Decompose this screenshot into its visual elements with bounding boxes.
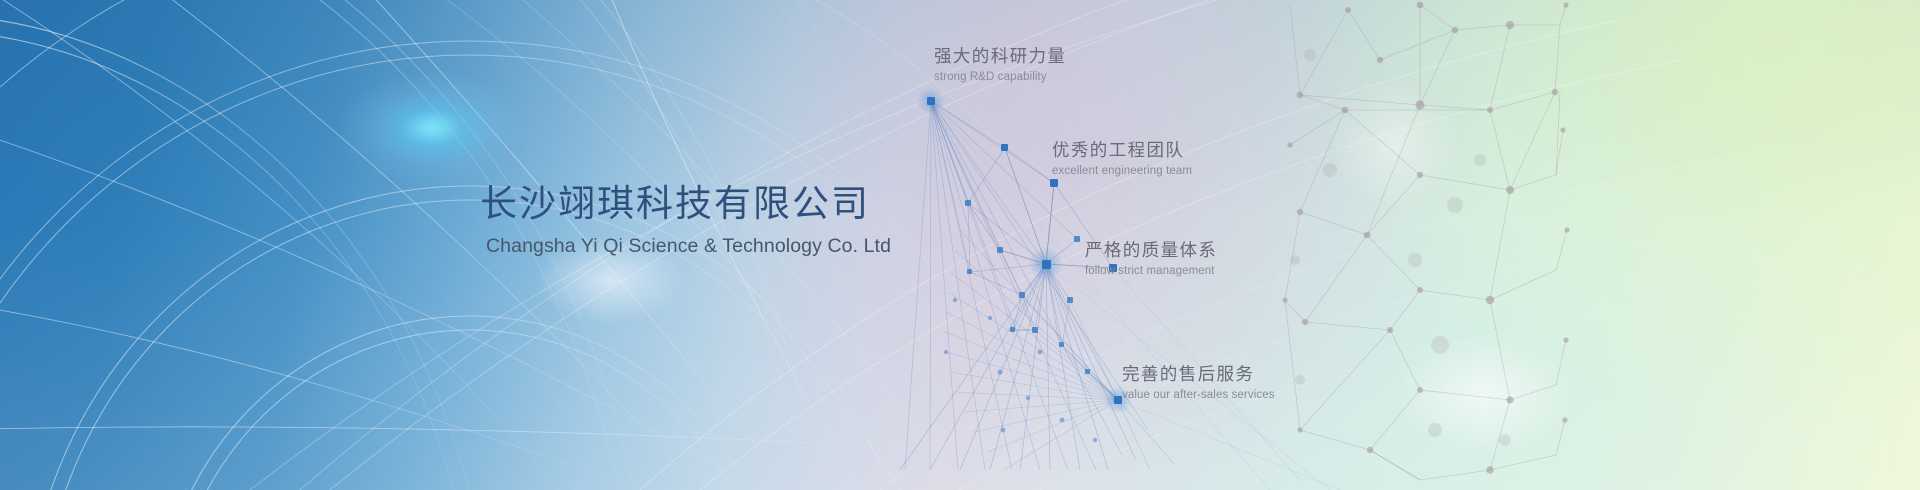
feature-engineering-chinese: 优秀的工程团队 bbox=[1052, 140, 1192, 162]
feature-label-engineering-team: 优秀的工程团队 excellent engineering team bbox=[1052, 140, 1192, 179]
company-name-english: Changsha Yi Qi Science & Technology Co. … bbox=[486, 235, 910, 258]
feature-after-sales-chinese: 完善的售后服务 bbox=[1122, 364, 1275, 386]
feature-quality-chinese: 严格的质量体系 bbox=[1085, 240, 1217, 262]
feature-rnd-english: strong R&D capability bbox=[934, 71, 1066, 85]
feature-label-after-sales: 完善的售后服务 value our after-sales services bbox=[1122, 364, 1275, 403]
feature-engineering-english: excellent engineering team bbox=[1052, 165, 1192, 179]
company-hero-banner: 长沙翊琪科技有限公司 Changsha Yi Qi Science & Tech… bbox=[0, 0, 1920, 490]
company-name-chinese: 长沙翊琪科技有限公司 bbox=[480, 182, 910, 227]
feature-label-rnd: 强大的科研力量 strong R&D capability bbox=[934, 46, 1066, 85]
company-title-block: 长沙翊琪科技有限公司 Changsha Yi Qi Science & Tech… bbox=[480, 182, 910, 259]
feature-quality-english: follow strict management bbox=[1085, 265, 1217, 279]
feature-rnd-chinese: 强大的科研力量 bbox=[934, 46, 1066, 68]
feature-after-sales-english: value our after-sales services bbox=[1122, 389, 1275, 403]
feature-label-quality-system: 严格的质量体系 follow strict management bbox=[1085, 240, 1217, 279]
